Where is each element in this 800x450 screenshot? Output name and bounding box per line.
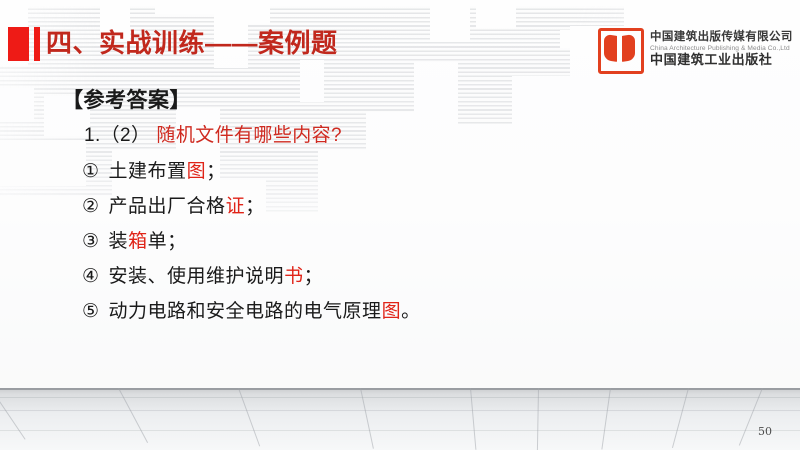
publisher-logo: 中国建筑出版传媒有限公司 China Architecture Publishi…: [596, 24, 792, 74]
list-item-text-post: 单；: [148, 231, 187, 252]
emblem-book-right: [621, 34, 635, 62]
list-item-marker: ④: [82, 266, 100, 287]
floor-grid-line: [537, 388, 539, 450]
perspective-floor: [0, 388, 800, 450]
floor-grid-line: [0, 388, 26, 440]
list-item-text-post: ；: [206, 161, 226, 182]
list-item: ⑤动力电路和安全电路的电气原理图。: [82, 296, 421, 323]
publisher-logo-text: 中国建筑出版传媒有限公司 China Architecture Publishi…: [650, 30, 793, 69]
publisher-press-cn: 中国建筑工业出版社: [650, 53, 793, 69]
emblem-book-left: [604, 34, 618, 62]
list-item: ①土建布置图；: [82, 156, 226, 183]
list-item: ②产品出厂合格证；: [82, 191, 265, 218]
presentation-slide: 四、实战训练——案例题 中国建筑出版传媒有限公司 China Architect…: [0, 0, 800, 450]
list-item-text-pre: 土建布置: [109, 161, 187, 182]
publisher-emblem-icon: [596, 26, 644, 72]
list-item-text-pre: 安装、使用维护说明: [109, 266, 285, 287]
question-number: 1.（2）: [84, 125, 150, 146]
question-text: 随机文件有哪些内容?: [156, 125, 342, 146]
publisher-company-cn: 中国建筑出版传媒有限公司: [650, 30, 793, 44]
floor-grid-line: [0, 397, 800, 398]
list-item-highlight: 书: [284, 266, 304, 287]
emblem-book-spine: [617, 33, 622, 63]
list-item-text-post: 。: [401, 301, 421, 322]
list-item-highlight: 图: [382, 301, 402, 322]
title-accent-bar: [34, 27, 40, 61]
page-number: 50: [758, 425, 772, 438]
floor-grid-line: [0, 430, 800, 431]
list-item-text-post: ；: [245, 196, 265, 217]
list-item-marker: ②: [82, 196, 100, 217]
list-item: ④安装、使用维护说明书；: [82, 261, 323, 288]
list-item-marker: ③: [82, 231, 100, 252]
list-item-text-pre: 装: [109, 231, 129, 252]
list-item-text-pre: 动力电路和安全电路的电气原理: [109, 301, 382, 322]
list-item-highlight: 证: [226, 196, 246, 217]
list-item-text-post: ；: [304, 266, 324, 287]
page-title: 四、实战训练——案例题: [46, 26, 338, 60]
publisher-company-en: China Architecture Publishing & Media Co…: [650, 44, 793, 53]
title-accent-block: [8, 27, 29, 61]
question-line: 1.（2）随机文件有哪些内容?: [84, 120, 342, 147]
reference-answer-heading: 【参考答案】: [62, 84, 191, 114]
list-item-marker: ①: [82, 161, 100, 182]
list-item-marker: ⑤: [82, 301, 100, 322]
list-item: ③装箱单；: [82, 226, 187, 253]
list-item-highlight: 图: [187, 161, 207, 182]
list-item-text-pre: 产品出厂合格: [109, 196, 226, 217]
floor-grid-line: [0, 410, 800, 411]
list-item-highlight: 箱: [128, 231, 148, 252]
